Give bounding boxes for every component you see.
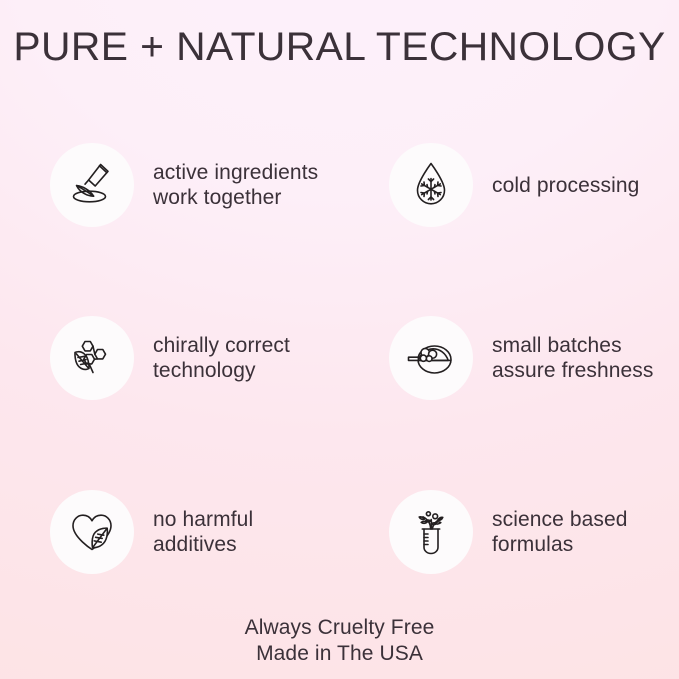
spoon-batch-icon [389,316,473,400]
feature-item-small-batches: small batches assure freshness [389,316,679,400]
page-title: PURE + NATURAL TECHNOLOGY [0,22,679,72]
feature-item-no-harmful-additives: no harmful additives [50,490,350,574]
feature-label-line1: active ingredients [153,160,318,185]
feature-label: cold processing [492,173,639,198]
droplet-snowflake-icon [389,143,473,227]
feature-label-line1: science based [492,507,628,532]
feature-label: science based formulas [492,507,628,557]
feature-label: active ingredients work together [153,160,318,210]
infographic-panel: PURE + NATURAL TECHNOLOGY active [0,0,679,679]
feature-label-line2: additives [153,532,253,557]
feature-item-chirally-correct: chirally correct technology [50,316,350,400]
feature-label-line1: cold processing [492,173,639,198]
feature-label-line1: no harmful [153,507,253,532]
feature-label-line2: formulas [492,532,628,557]
footer-line-cruelty-free: Always Cruelty Free [0,615,679,641]
feature-label-line1: chirally correct [153,333,290,358]
dropper-leaf-icon [50,143,134,227]
page-title-text: PURE + NATURAL TECHNOLOGY [0,22,679,72]
feature-item-active-ingredients: active ingredients work together [50,143,350,227]
footer-text: Always Cruelty Free Made in The USA [0,615,679,667]
feature-label: no harmful additives [153,507,253,557]
feature-label-line2: technology [153,358,290,383]
feature-item-science-based-formulas: science based formulas [389,490,679,574]
feature-label-line2: assure freshness [492,358,654,383]
feature-label-line1: small batches [492,333,654,358]
test-tube-plant-icon [389,490,473,574]
heart-leaf-icon [50,490,134,574]
molecule-leaf-icon [50,316,134,400]
feature-grid: active ingredients work together [0,143,679,598]
feature-label: chirally correct technology [153,333,290,383]
feature-label: small batches assure freshness [492,333,654,383]
feature-item-cold-processing: cold processing [389,143,679,227]
feature-label-line2: work together [153,185,318,210]
footer-line-made-in-usa: Made in The USA [0,641,679,667]
